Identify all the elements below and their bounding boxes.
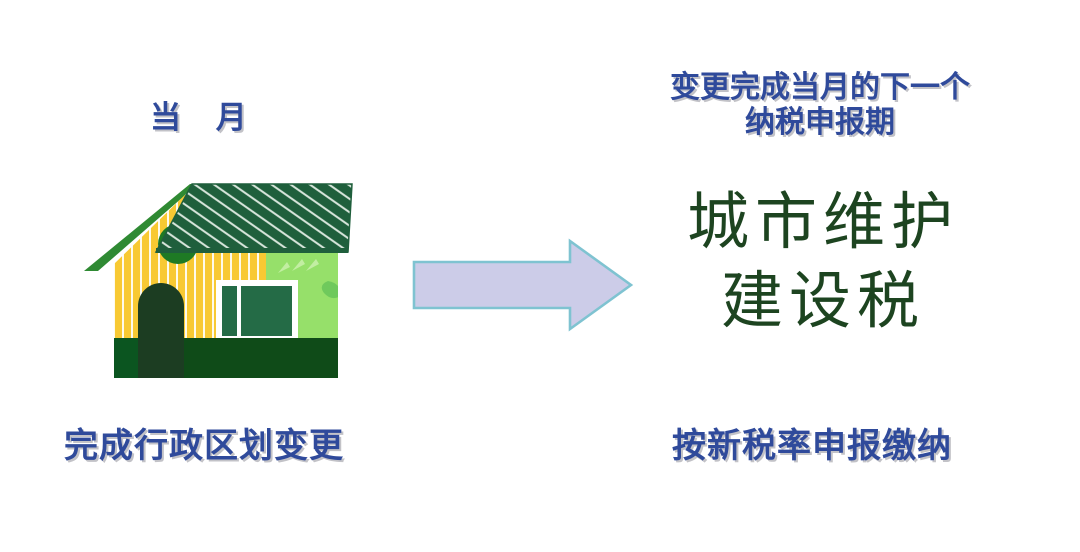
- left-timing-label: 当 月: [150, 100, 259, 137]
- right-heading-line-2: 纳税申报期: [620, 105, 1020, 140]
- right-heading-line-1: 变更完成当月的下一个: [620, 70, 1020, 105]
- house-illustration: [70, 176, 380, 384]
- house-window: [216, 280, 298, 342]
- right-arrow-icon: [412, 238, 634, 332]
- house-svg: [70, 176, 380, 384]
- left-caption: 完成行政区划变更: [64, 426, 344, 466]
- tax-name-line-2: 建设税: [620, 261, 1020, 340]
- right-heading: 变更完成当月的下一个 纳税申报期: [620, 70, 1020, 141]
- right-caption: 按新税率申报缴纳: [672, 426, 952, 466]
- tax-name-block: 城市维护 建设税: [620, 182, 1020, 341]
- infographic-canvas: 当 月: [0, 0, 1080, 552]
- tax-name-line-1: 城市维护: [620, 182, 1020, 261]
- right-arrow-svg: [412, 238, 634, 332]
- house-door: [138, 283, 184, 378]
